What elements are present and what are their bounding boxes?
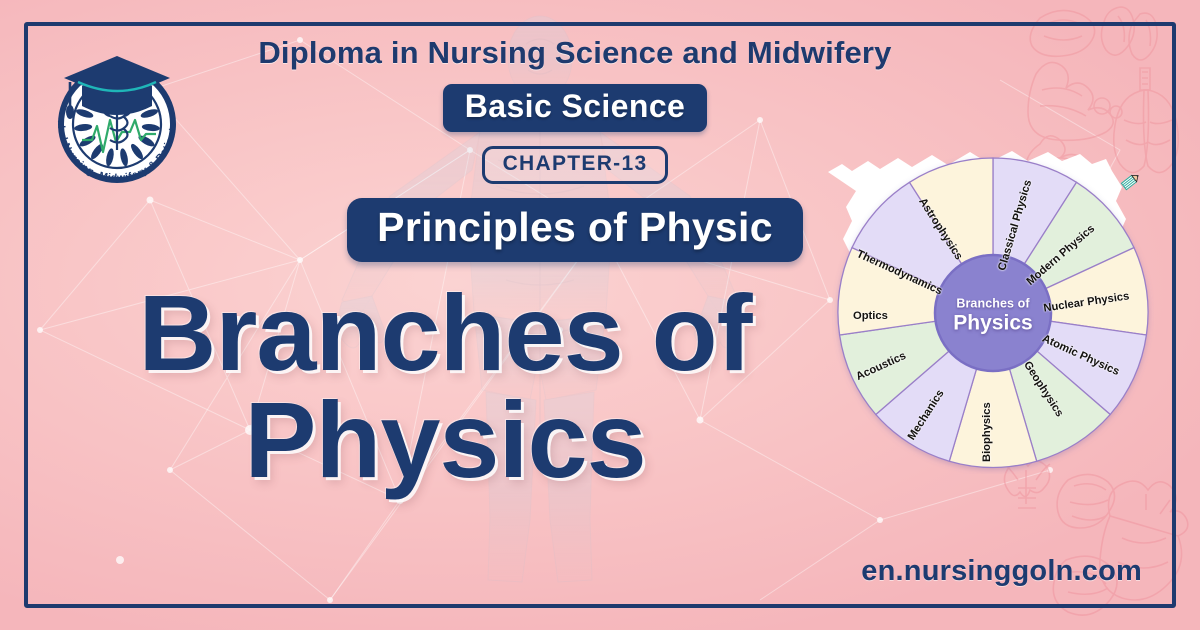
chapter-number-badge: CHAPTER-13 [482, 146, 669, 184]
wheel-label-biophysics: Biophysics [981, 402, 993, 462]
page-title-line1: Branches of [138, 272, 751, 393]
page-title-line2: Physics [50, 387, 840, 494]
page-title: Branches of Physics [50, 280, 840, 494]
gurukul-logo: Gurukul Nursing, Midwifery & Patient Car… [44, 48, 190, 198]
website-url[interactable]: en.nursinggoln.com [861, 555, 1142, 588]
branches-of-physics-wheel: Classical Physics Modern Physics Nuclear… [818, 148, 1170, 478]
poster-canvas: Gurukul Nursing, Midwifery & Patient Car… [0, 0, 1200, 630]
wheel-label-optics: Optics [853, 310, 888, 322]
chapter-title-badge: Principles of Physic [347, 198, 803, 262]
course-title: Diploma in Nursing Science and Midwifery [170, 36, 980, 70]
subject-badge: Basic Science [443, 84, 707, 132]
pencil-icon [1118, 168, 1144, 194]
